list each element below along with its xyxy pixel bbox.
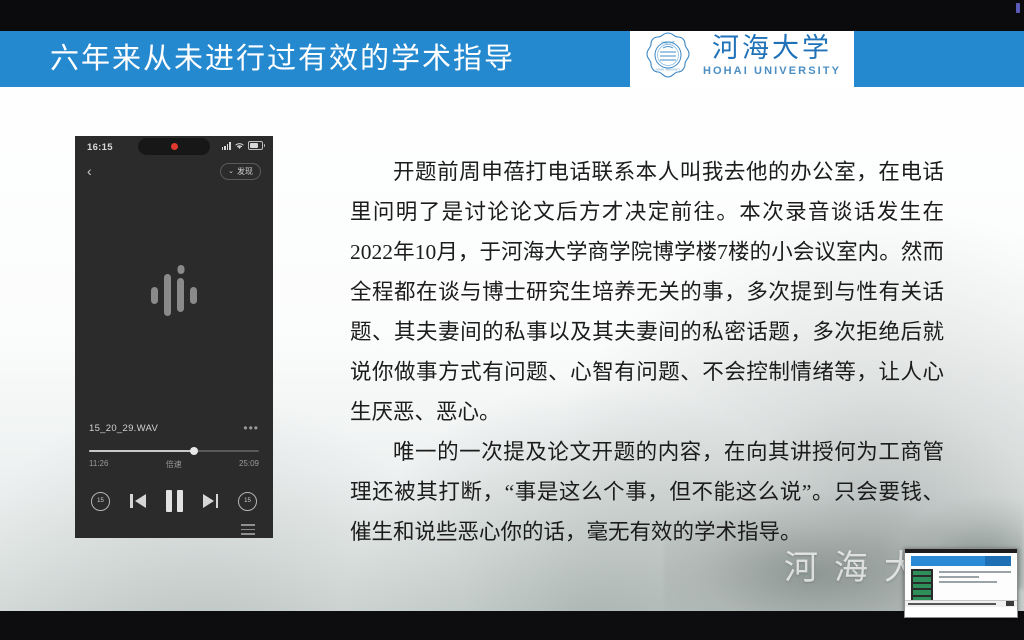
letterbox-bottom (0, 611, 1024, 640)
discover-pill-button[interactable]: ⌄ 发现 (220, 163, 261, 180)
pip-progress-bar[interactable] (908, 603, 996, 605)
phone-screenshot: 16:15 ‹ ⌄ 发现 (75, 136, 273, 538)
phone-status-bar: 16:15 (75, 136, 273, 158)
logo-wordmark: 河海大学 HOHAI UNIVERSITY (703, 35, 841, 77)
status-indicators (222, 141, 263, 150)
pip-header-accent (985, 556, 1011, 566)
pip-fullscreen-icon[interactable] (1006, 601, 1014, 606)
phone-nav-row: ‹ ⌄ 发现 (75, 158, 273, 184)
elapsed-time: 11:26 (89, 459, 108, 470)
playback-times: 11:26 倍速 25:09 (75, 452, 273, 470)
list-menu-icon[interactable] (241, 524, 255, 535)
total-time: 25:09 (239, 459, 259, 470)
recording-indicator-icon (171, 143, 178, 150)
slider-knob[interactable] (190, 447, 198, 455)
signal-icon (222, 142, 231, 150)
video-frame: 河海大 六年来从未进行过有效的学术指导 河海大学 HOHAI UNIVERSIT… (0, 0, 1024, 640)
header-band-right (854, 25, 1024, 87)
phone-file-row: 15_20_29.WAV ••• (75, 416, 273, 440)
playback-slider[interactable] (75, 440, 273, 452)
forward-15-button[interactable]: 15 (238, 492, 257, 511)
more-options-icon[interactable]: ••• (243, 422, 259, 434)
hohai-crest-icon: 河海大学 HOHAI UNIVERSITY (643, 31, 693, 81)
status-clock: 16:15 (87, 142, 113, 153)
svg-text:河海大学: 河海大学 (661, 40, 675, 45)
university-logo: 河海大学 HOHAI UNIVERSITY 河海大学 HOHAI UNIVERS… (630, 25, 854, 87)
rewind-15-button[interactable]: 15 (91, 492, 110, 511)
slider-track[interactable] (89, 450, 259, 452)
back-icon[interactable]: ‹ (87, 164, 92, 178)
picture-in-picture-thumbnail[interactable] (904, 548, 1018, 618)
phone-footer (75, 512, 273, 538)
svg-text:HOHAI UNIVERSITY: HOHAI UNIVERSITY (656, 68, 681, 72)
battery-icon (248, 141, 263, 150)
pause-button[interactable] (166, 490, 183, 512)
body-paragraph-1: 开题前周申蓓打电话联系本人叫我去他的办公室，在电话里问明了是讨论论文后方才决定前… (350, 152, 944, 432)
audio-waveform-icon (151, 270, 197, 320)
next-track-button[interactable] (203, 494, 219, 508)
pip-text-lines (939, 571, 1011, 583)
cursor-indicator (1016, 3, 1020, 13)
phone-notch (138, 138, 210, 155)
audio-filename: 15_20_29.WAV (89, 423, 158, 434)
discover-pill-label: 发现 (237, 166, 253, 177)
chevron-down-icon: ⌄ (228, 167, 234, 175)
slide-header: 六年来从未进行过有效的学术指导 河海大学 HOHAI UNIVERSITY 河海… (0, 25, 1024, 87)
speed-button[interactable]: 倍速 (166, 459, 182, 470)
playback-controls: 15 15 (75, 470, 273, 512)
pip-content (905, 553, 1017, 607)
letterbox-top (0, 0, 1024, 31)
waveform-dot-icon (177, 265, 184, 274)
phone-waveform-area (75, 184, 273, 416)
slider-fill (89, 450, 194, 452)
pip-sidebar (911, 569, 933, 603)
previous-track-button[interactable] (130, 494, 146, 508)
header-band: 六年来从未进行过有效的学术指导 (0, 25, 630, 87)
page-title: 六年来从未进行过有效的学术指导 (0, 35, 515, 77)
body-paragraph-2: 唯一的一次提及论文开题的内容，在向其讲授何为工商管理还被其打断，“事是这么个事，… (350, 432, 944, 552)
slide-body-text: 开题前周申蓓打电话联系本人叫我去他的办公室，在电话里问明了是讨论论文后方才决定前… (350, 152, 944, 552)
logo-english-name: HOHAI UNIVERSITY (703, 66, 841, 77)
logo-chinese-name: 河海大学 (712, 35, 832, 62)
wifi-icon (234, 142, 245, 150)
